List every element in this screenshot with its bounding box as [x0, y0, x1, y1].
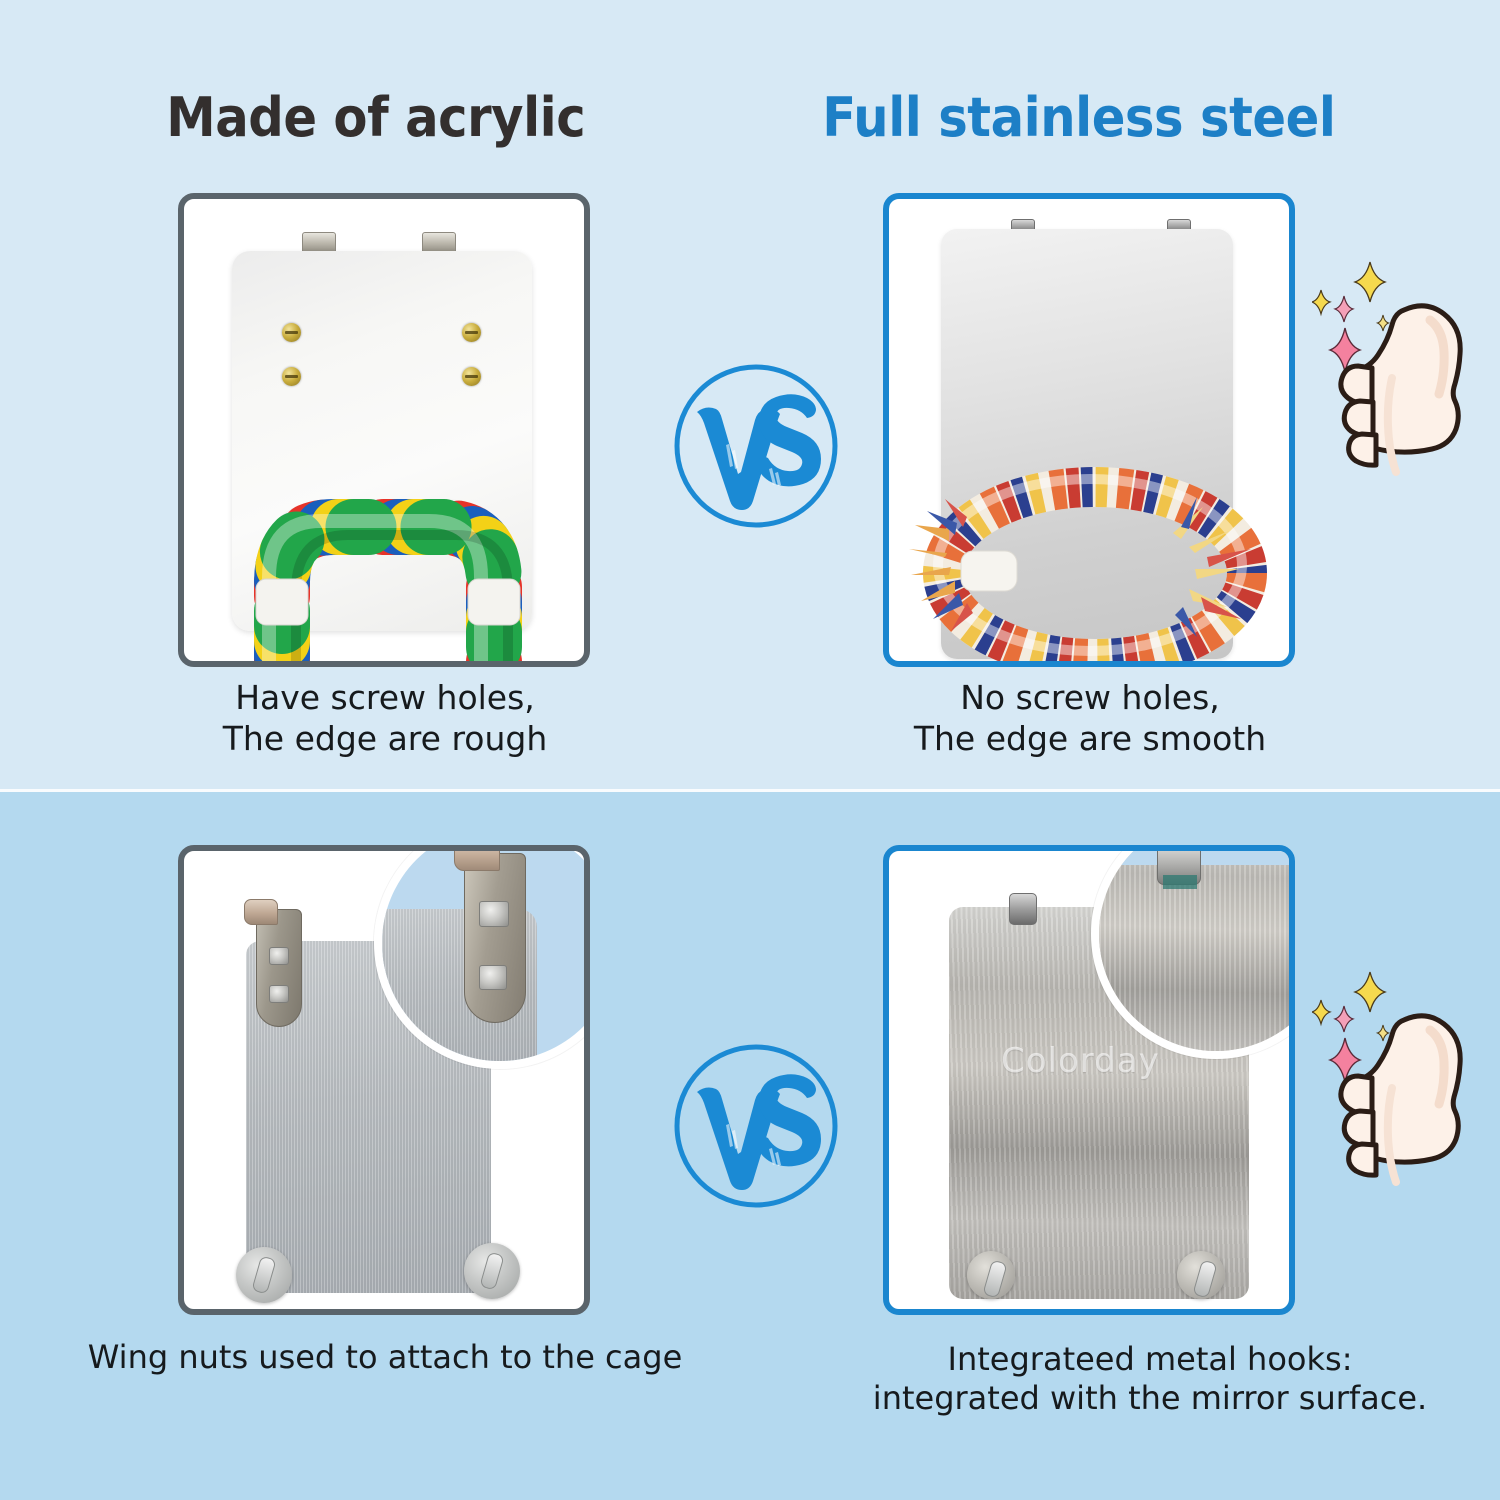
- product-card-steel-back: Colorday: [883, 845, 1295, 1315]
- vs-badge-icon: [672, 362, 840, 530]
- thumbs-up-icon: [1312, 968, 1490, 1200]
- wing-nut-icon: [236, 1247, 292, 1303]
- hook-bracket-icon: [256, 909, 302, 1027]
- wing-nut-icon: [464, 1243, 520, 1299]
- thumbs-up-hand: [1341, 1016, 1460, 1182]
- acrylic-back-photo: [184, 851, 584, 1309]
- magnifier-circle-icon: [1091, 851, 1289, 1059]
- rope-ring-graphic: [889, 431, 1289, 661]
- caption-steel-no-screw-holes: No screw holes, The edge are smooth: [855, 678, 1325, 759]
- acrylic-front-photo: [184, 199, 584, 661]
- wing-nut-icon: [967, 1251, 1015, 1299]
- caption-acrylic-screw-holes: Have screw holes, The edge are rough: [150, 678, 620, 759]
- hook-lip-icon: [244, 899, 278, 925]
- caption-wing-nuts: Wing nuts used to attach to the cage: [70, 1338, 700, 1377]
- steel-back-photo: Colorday: [889, 851, 1289, 1309]
- wing-nut-icon: [1177, 1251, 1225, 1299]
- screw-icon: [282, 323, 301, 342]
- steel-front-photo: [889, 199, 1289, 661]
- thumbs-up-icon: [1312, 258, 1490, 490]
- heading-stainless-steel: Full stainless steel: [822, 86, 1335, 149]
- heading-acrylic: Made of acrylic: [166, 86, 585, 149]
- bolt-icon: [269, 947, 289, 965]
- screw-icon: [462, 367, 481, 386]
- bolt-icon: [269, 985, 289, 1003]
- magnifier-circle-icon: [374, 851, 584, 1069]
- rope-perch-graphic: [184, 431, 584, 661]
- thumbs-up-hand: [1341, 306, 1460, 472]
- caption-integrated-hooks: Integrateed metal hooks: integrated with…: [840, 1340, 1460, 1419]
- integrated-hook-icon: [1009, 893, 1037, 925]
- product-card-acrylic-back: [178, 845, 590, 1315]
- product-comparison-infographic: Made of acrylic Full stainless steel: [0, 0, 1500, 1500]
- vs-badge-icon: [672, 1042, 840, 1210]
- product-card-steel-front: [883, 193, 1295, 667]
- rope-ring: [889, 431, 1289, 661]
- rope-perch: [184, 431, 584, 661]
- screw-icon: [462, 323, 481, 342]
- screw-icon: [282, 367, 301, 386]
- panel-divider: [0, 789, 1500, 792]
- product-card-acrylic-front: [178, 193, 590, 667]
